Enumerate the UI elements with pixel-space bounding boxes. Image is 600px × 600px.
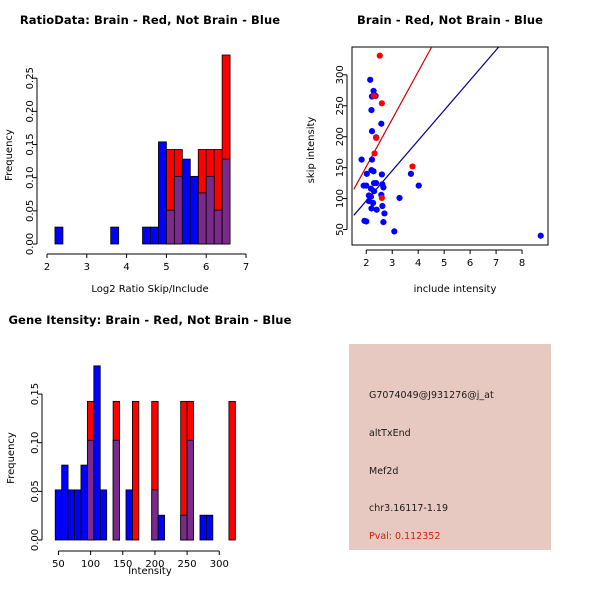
svg-text:7: 7 xyxy=(493,258,499,269)
scatter-y-axis-label: skip intensity xyxy=(306,117,317,184)
svg-text:5: 5 xyxy=(441,258,447,269)
svg-text:2: 2 xyxy=(44,262,50,273)
gene-symbol-text: Mef2d xyxy=(369,466,398,477)
gene-info-panel: G7074049@J931276@j_at altTxEnd Mef2d chr… xyxy=(300,300,600,600)
histogram-bar xyxy=(132,401,138,540)
svg-text:2: 2 xyxy=(363,258,369,269)
scatter-point xyxy=(369,157,375,163)
svg-text:0.10: 0.10 xyxy=(30,432,41,454)
svg-text:250: 250 xyxy=(335,96,346,115)
scatter-point xyxy=(380,219,386,225)
svg-text:0.05: 0.05 xyxy=(30,480,41,502)
svg-text:3: 3 xyxy=(389,258,395,269)
svg-text:8: 8 xyxy=(519,258,525,269)
svg-text:0.00: 0.00 xyxy=(25,233,36,255)
scatter-point xyxy=(377,53,383,59)
scatter-svg: 234567850100150200250300 include intensi… xyxy=(300,0,600,300)
svg-text:300: 300 xyxy=(210,559,229,570)
svg-text:50: 50 xyxy=(52,559,65,570)
scatter-point xyxy=(371,188,377,194)
histogram-bar xyxy=(150,227,158,244)
histogram-bar xyxy=(187,440,193,540)
pvalue-text: Pval: 0.112352 xyxy=(369,531,440,542)
gene-histogram-axes: 501001502002503000.000.050.100.15 xyxy=(30,383,229,570)
histogram-bar xyxy=(190,176,198,244)
histogram-bar xyxy=(158,142,166,244)
gene-histogram-title: Gene Itensity: Brain - Red, Not Brain - … xyxy=(0,313,300,327)
scatter-point xyxy=(363,218,369,224)
scatter-point xyxy=(369,128,375,134)
scatter-point xyxy=(359,157,365,163)
event-type-text: altTxEnd xyxy=(369,428,411,439)
svg-text:4: 4 xyxy=(415,258,421,269)
histogram-bar xyxy=(182,159,190,244)
scatter-title: Brain - Red, Not Brain - Blue xyxy=(300,13,600,27)
gene-histogram-svg: 501001502002503000.000.050.100.15 Intens… xyxy=(0,300,300,600)
svg-text:0.00: 0.00 xyxy=(30,529,41,551)
scatter-point xyxy=(368,205,374,211)
histogram-bar xyxy=(111,227,119,244)
histogram-bar xyxy=(200,515,206,540)
gene-info-box: G7074049@J931276@j_at altTxEnd Mef2d chr… xyxy=(349,344,551,550)
scatter-point xyxy=(391,228,397,234)
svg-text:6: 6 xyxy=(203,262,209,273)
scatter-x-axis-label: include intensity xyxy=(414,284,497,295)
histogram-bar xyxy=(100,490,106,540)
probe-id-text: G7074049@J931276@j_at xyxy=(369,390,494,401)
svg-text:0.25: 0.25 xyxy=(25,67,36,89)
scatter-point xyxy=(371,150,377,156)
scatter-point xyxy=(538,233,544,239)
histogram-bar xyxy=(55,490,61,540)
histogram-bar xyxy=(55,227,63,244)
histogram-bar xyxy=(75,490,81,540)
scatter-point xyxy=(373,180,379,186)
svg-text:100: 100 xyxy=(81,559,100,570)
gene-intensity-panel: Gene Itensity: Brain - Red, Not Brain - … xyxy=(0,300,300,600)
scatter-point xyxy=(381,210,387,216)
svg-text:0.15: 0.15 xyxy=(25,133,36,155)
scatter-point xyxy=(379,171,385,177)
scatter-axes: 234567850100150200250300 xyxy=(335,65,525,269)
svg-text:200: 200 xyxy=(335,127,346,146)
locus-text: chr3.16117-1.19 xyxy=(369,503,448,514)
svg-text:0.20: 0.20 xyxy=(25,100,36,122)
scatter-point xyxy=(370,168,376,174)
svg-text:150: 150 xyxy=(335,158,346,177)
histogram-bar xyxy=(206,176,214,244)
histogram-bar xyxy=(143,227,151,244)
scatter-point xyxy=(396,195,402,201)
histogram-bar xyxy=(229,401,235,540)
gene-x-axis-label: Intensity xyxy=(128,566,172,577)
histogram-bar xyxy=(174,176,182,244)
ratio-histogram-title: RatioData: Brain - Red, Not Brain - Blue xyxy=(0,13,300,27)
scatter-point xyxy=(416,183,422,189)
intensity-scatter-panel: Brain - Red, Not Brain - Blue 2345678501… xyxy=(300,0,600,300)
svg-text:4: 4 xyxy=(123,262,129,273)
scatter-points xyxy=(359,53,544,239)
histogram-bar xyxy=(214,210,222,244)
scatter-point xyxy=(371,93,377,99)
scatter-point xyxy=(367,77,373,83)
histogram-bar xyxy=(222,159,230,244)
histogram-bar xyxy=(113,440,119,540)
scatter-point xyxy=(373,135,379,141)
scatter-point xyxy=(368,107,374,113)
svg-text:0.05: 0.05 xyxy=(25,200,36,222)
scatter-point xyxy=(379,195,385,201)
svg-text:300: 300 xyxy=(335,65,346,84)
scatter-point xyxy=(374,207,380,213)
scatter-point xyxy=(378,121,384,127)
scatter-point xyxy=(380,184,386,190)
scatter-plot-frame xyxy=(352,47,548,245)
histogram-bar xyxy=(94,366,100,540)
histogram-bar xyxy=(166,210,174,244)
scatter-point xyxy=(370,200,376,206)
histogram-bar xyxy=(152,490,158,540)
svg-text:50: 50 xyxy=(335,223,346,236)
ratio-x-axis-label: Log2 Ratio Skip/Include xyxy=(91,284,208,295)
svg-text:0.15: 0.15 xyxy=(30,383,41,405)
histogram-bar xyxy=(206,515,212,540)
svg-text:250: 250 xyxy=(178,559,197,570)
ratio-y-axis-label: Frequency xyxy=(4,129,15,181)
gene-y-axis-label: Frequency xyxy=(6,432,17,484)
ratio-histogram-panel: RatioData: Brain - Red, Not Brain - Blue… xyxy=(0,0,300,300)
histogram-bar xyxy=(68,490,74,540)
plot-box xyxy=(352,47,548,245)
histogram-bar xyxy=(158,515,164,540)
histogram-bar xyxy=(62,465,68,540)
histogram-bar xyxy=(181,515,187,540)
ratio-histogram-bars xyxy=(55,55,230,244)
ratio-histogram-svg: 2345670.000.050.100.150.200.25 Log2 Rati… xyxy=(0,0,300,300)
gene-histogram-bars xyxy=(55,366,235,540)
scatter-point xyxy=(379,203,385,209)
svg-text:3: 3 xyxy=(84,262,90,273)
scatter-point xyxy=(379,100,385,106)
scatter-point xyxy=(408,171,414,177)
svg-text:7: 7 xyxy=(243,262,249,273)
svg-text:5: 5 xyxy=(163,262,169,273)
histogram-bar xyxy=(126,490,132,540)
histogram-bar xyxy=(81,465,87,540)
svg-text:100: 100 xyxy=(335,189,346,208)
histogram-bar xyxy=(87,440,93,540)
brain-fit-line xyxy=(354,47,432,189)
scatter-point xyxy=(409,163,415,169)
svg-text:6: 6 xyxy=(467,258,473,269)
histogram-bar xyxy=(198,193,206,244)
svg-text:0.10: 0.10 xyxy=(25,167,36,189)
